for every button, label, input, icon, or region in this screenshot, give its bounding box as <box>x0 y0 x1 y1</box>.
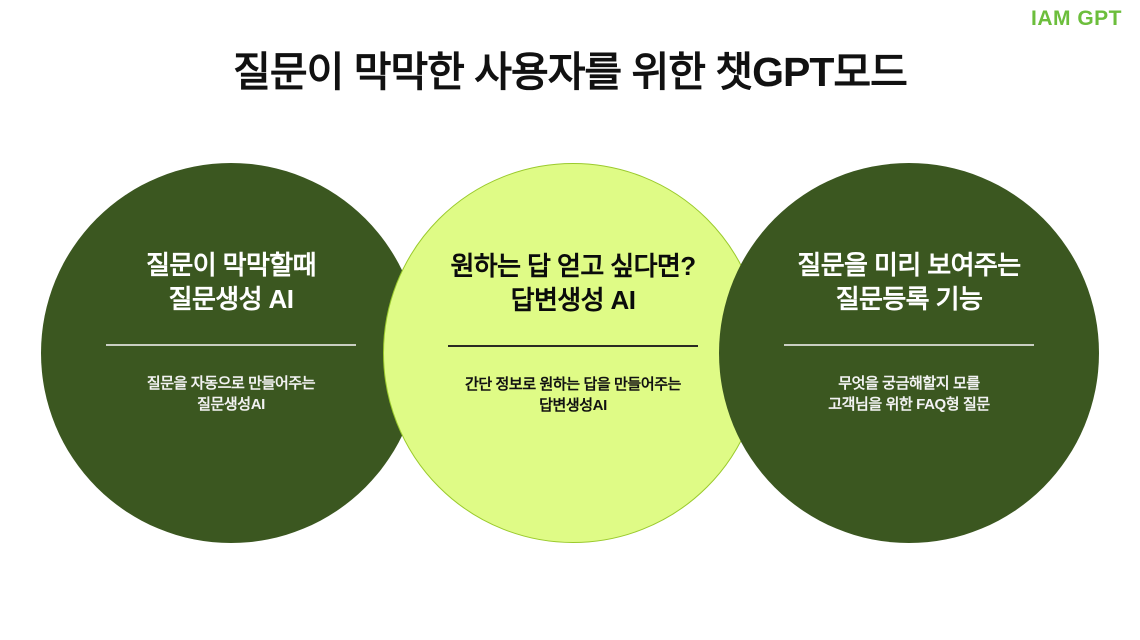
circle-title: 질문이 막막할때 질문생성 AI <box>146 249 316 317</box>
circle-title-line-1: 원하는 답 얻고 싶다면? <box>450 250 695 284</box>
circle-title-line-2: 질문등록 기능 <box>797 283 1020 317</box>
circle-body: 질문을 자동으로 만들어주는 질문생성AI <box>147 373 315 417</box>
circle-content: 원하는 답 얻고 싶다면? 답변생성 AI 간단 정보로 원하는 답을 만들어주… <box>408 164 738 417</box>
circle-title-line-1: 질문이 막막할때 <box>146 249 316 283</box>
circle-title: 원하는 답 얻고 싶다면? 답변생성 AI <box>450 250 695 318</box>
page-title: 질문이 막막한 사용자를 위한 챗GPT모드 <box>0 48 1140 97</box>
circle-divider <box>784 344 1034 346</box>
circle-title: 질문을 미리 보여주는 질문등록 기능 <box>797 249 1020 317</box>
circle-divider <box>448 345 698 347</box>
feature-circle-answer-generation-ai[interactable]: 원하는 답 얻고 싶다면? 답변생성 AI 간단 정보로 원하는 답을 만들어주… <box>383 163 763 543</box>
circle-title-line-2: 질문생성 AI <box>146 283 316 317</box>
circle-title-line-2: 답변생성 AI <box>450 284 695 318</box>
circle-body-line-1: 간단 정보로 원하는 답을 만들어주는 <box>465 374 681 396</box>
feature-circle-cluster: 질문이 막막할때 질문생성 AI 질문을 자동으로 만들어주는 질문생성AI 원… <box>0 163 1140 545</box>
circle-content: 질문을 미리 보여주는 질문등록 기능 무엇을 궁금해할지 모를 고객님을 위한… <box>759 163 1059 416</box>
circle-body-line-1: 질문을 자동으로 만들어주는 <box>147 373 315 395</box>
slide-root: IAM GPT 질문이 막막한 사용자를 위한 챗GPT모드 질문이 막막할때 … <box>0 0 1140 640</box>
circle-body: 간단 정보로 원하는 답을 만들어주는 답변생성AI <box>465 374 681 418</box>
circle-body-line-2: 질문생성AI <box>147 394 315 416</box>
brand-logo: IAM GPT <box>1031 8 1122 29</box>
feature-circle-question-registration[interactable]: 질문을 미리 보여주는 질문등록 기능 무엇을 궁금해할지 모를 고객님을 위한… <box>719 163 1099 543</box>
circle-body-line-1: 무엇을 궁금해할지 모를 <box>828 373 990 395</box>
circle-divider <box>106 344 356 346</box>
circle-body-line-2: 답변생성AI <box>465 395 681 417</box>
circle-body: 무엇을 궁금해할지 모를 고객님을 위한 FAQ형 질문 <box>828 373 990 417</box>
circle-content: 질문이 막막할때 질문생성 AI 질문을 자동으로 만들어주는 질문생성AI <box>81 163 381 416</box>
circle-title-line-1: 질문을 미리 보여주는 <box>797 249 1020 283</box>
feature-circle-question-generation-ai[interactable]: 질문이 막막할때 질문생성 AI 질문을 자동으로 만들어주는 질문생성AI <box>41 163 421 543</box>
circle-body-line-2: 고객님을 위한 FAQ형 질문 <box>828 394 990 416</box>
